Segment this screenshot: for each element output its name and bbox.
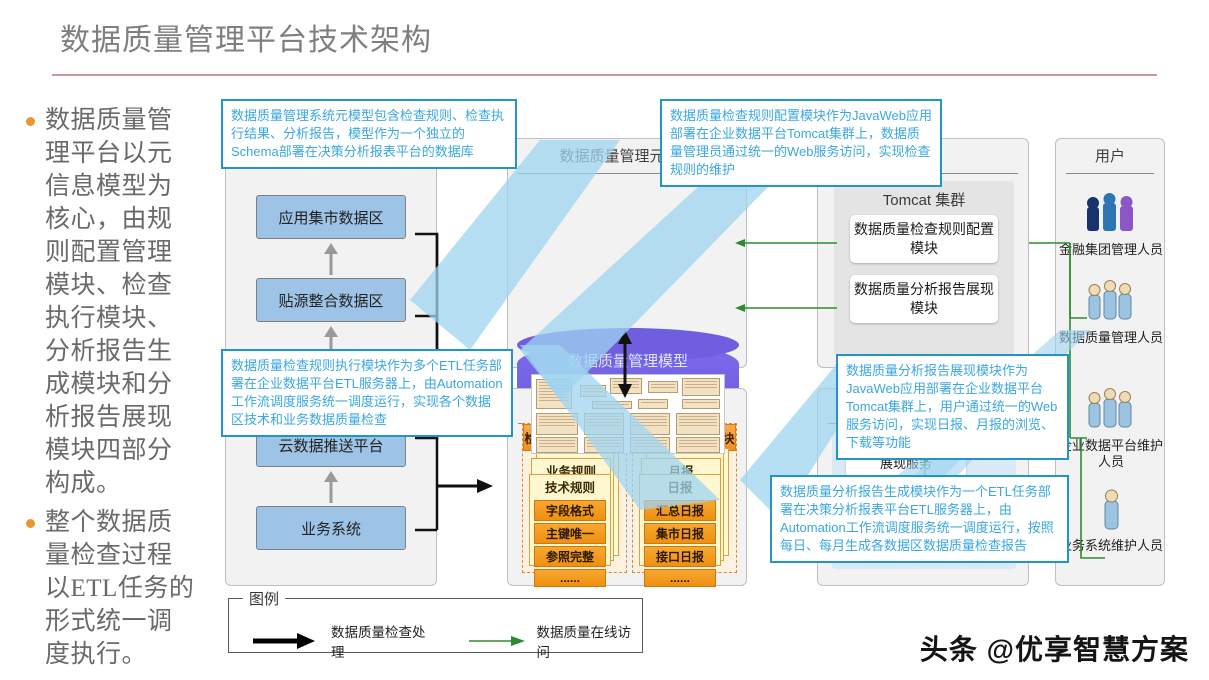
callout-report-show[interactable]: 数据质量分析报告展现模块作为JavaWeb应用部署在企业数据平台Tomcat集群… — [836, 354, 1069, 460]
callout-rule-exec[interactable]: 数据质量检查规则执行模块作为多个ETL任务部署在企业数据平台ETL服务器上，由A… — [221, 349, 513, 437]
callout-rule-config[interactable]: 数据质量检查规则配置模块作为JavaWeb应用部署在企业数据平台Tomcat集群… — [660, 99, 942, 187]
callout-meta-model[interactable]: 数据质量管理系统元模型包含检查规则、检查执行结果、分析报告，模型作为一个独立的S… — [221, 99, 517, 169]
callout-report-gen[interactable]: 数据质量分析报告生成模块作为一个ETL任务部署在决策分析报表平台ETL服务器上，… — [770, 475, 1069, 563]
callout-beams — [0, 0, 1209, 680]
